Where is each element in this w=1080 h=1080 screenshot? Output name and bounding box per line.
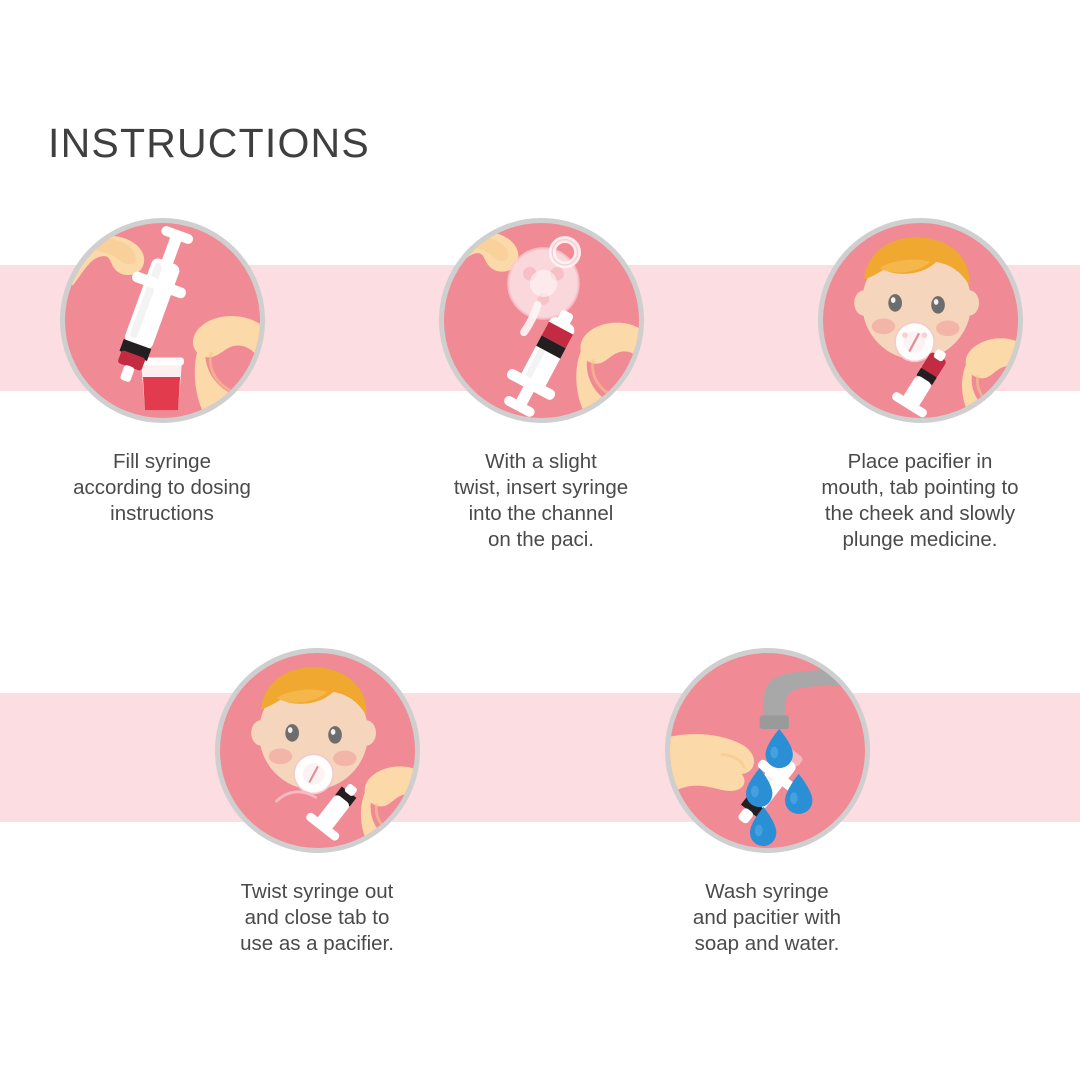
baby-twist-syringe-out-icon	[220, 653, 415, 848]
background-band-bottom	[0, 693, 1080, 822]
syringe-into-pacifier-icon	[444, 223, 639, 418]
step-5-caption: Wash syringe and pacitier with soap and …	[647, 879, 887, 957]
step-1-circle	[60, 218, 265, 423]
step-3-illustration	[818, 218, 1023, 423]
step-3-circle	[818, 218, 1023, 423]
step-2: With a slight twist, insert syringe into…	[421, 218, 661, 553]
wash-under-faucet-icon	[670, 653, 865, 848]
step-2-circle	[439, 218, 644, 423]
baby-pacifier-plunge-icon	[823, 223, 1018, 418]
step-2-illustration	[439, 218, 644, 423]
step-5-circle	[665, 648, 870, 853]
syringe-filling-from-cup-icon	[65, 223, 260, 418]
step-4-illustration	[215, 648, 420, 853]
step-2-caption: With a slight twist, insert syringe into…	[421, 449, 661, 553]
step-4-caption: Twist syringe out and close tab to use a…	[197, 879, 437, 957]
step-3: Place pacifier in mouth, tab pointing to…	[800, 218, 1040, 553]
step-5-illustration	[665, 648, 870, 853]
instructions-page: INSTRUCTIONS	[0, 0, 1080, 1080]
step-5: Wash syringe and pacitier with soap and …	[647, 648, 887, 957]
step-4-circle	[215, 648, 420, 853]
page-title: INSTRUCTIONS	[48, 120, 370, 167]
step-1-illustration	[60, 218, 265, 423]
step-4: Twist syringe out and close tab to use a…	[197, 648, 437, 957]
step-1-caption: Fill syringe according to dosing instruc…	[42, 449, 282, 527]
step-3-caption: Place pacifier in mouth, tab pointing to…	[800, 449, 1040, 553]
step-1: Fill syringe according to dosing instruc…	[42, 218, 282, 527]
